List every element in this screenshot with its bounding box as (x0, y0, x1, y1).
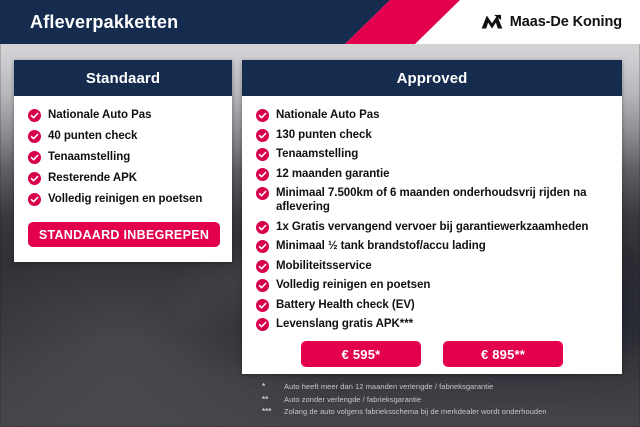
check-circle-icon (256, 187, 269, 200)
feature-label: Volledig reinigen en poetsen (48, 192, 202, 206)
card-approved-body: Nationale Auto Pas 130 punten check Tena… (242, 96, 622, 377)
footnote-row: *** Zolang de auto volgens fabrieksschem… (262, 406, 632, 417)
list-item: Minimaal ½ tank brandstof/accu lading (256, 239, 608, 253)
list-item: Battery Health check (EV) (256, 298, 608, 312)
feature-label: 12 maanden garantie (276, 167, 389, 181)
feature-label: Levenslang gratis APK*** (276, 317, 413, 331)
feature-label: Minimaal ½ tank brandstof/accu lading (276, 239, 486, 253)
list-item: Mobiliteitsservice (256, 259, 608, 273)
feature-label: Nationale Auto Pas (48, 108, 151, 122)
check-circle-icon (28, 130, 41, 143)
footnote-text: Auto zonder verlengde / fabrieksgarantie (284, 394, 421, 405)
check-circle-icon (28, 151, 41, 164)
check-circle-icon (256, 168, 269, 181)
standaard-feature-list: Nationale Auto Pas 40 punten check Tenaa… (28, 108, 218, 206)
list-item: 40 punten check (28, 129, 218, 143)
price-button-895[interactable]: € 895** (443, 341, 563, 367)
feature-label: 1x Gratis vervangend vervoer bij garanti… (276, 220, 588, 234)
feature-label: Volledig reinigen en poetsen (276, 278, 430, 292)
footnote-marker: * (262, 381, 284, 392)
card-approved-title: Approved (397, 70, 468, 87)
check-circle-icon (256, 240, 269, 253)
list-item: Tenaamstelling (28, 150, 218, 164)
check-circle-icon (256, 318, 269, 331)
feature-label: 130 punten check (276, 128, 372, 142)
footnote-marker: ** (262, 394, 284, 405)
footnote-text: Auto heeft meer dan 12 maanden verlengde… (284, 381, 493, 392)
card-standaard-title: Standaard (86, 70, 160, 87)
list-item: Levenslang gratis APK*** (256, 317, 608, 331)
list-item: 12 maanden garantie (256, 167, 608, 181)
check-circle-icon (256, 221, 269, 234)
list-item: Volledig reinigen en poetsen (256, 278, 608, 292)
list-item: Volledig reinigen en poetsen (28, 192, 218, 206)
maas-de-koning-mark-icon (481, 14, 503, 30)
check-circle-icon (256, 148, 269, 161)
price-button-595[interactable]: € 595* (301, 341, 421, 367)
check-circle-icon (28, 109, 41, 122)
card-standaard: Standaard Nationale Auto Pas 40 punten c… (14, 60, 232, 262)
check-circle-icon (256, 279, 269, 292)
afleverpakketten-page: Afleverpakketten Maas-De Koning Standaar… (0, 0, 640, 427)
list-item: Minimaal 7.500km of 6 maanden onderhouds… (256, 186, 608, 214)
card-standaard-body: Nationale Auto Pas 40 punten check Tenaa… (14, 96, 232, 257)
check-circle-icon (256, 299, 269, 312)
brand-logo: Maas-De Koning (481, 0, 622, 44)
feature-label: Mobiliteitsservice (276, 259, 372, 273)
list-item: Tenaamstelling (256, 147, 608, 161)
check-circle-icon (28, 172, 41, 185)
footnote-row: ** Auto zonder verlengde / fabrieksgaran… (262, 394, 632, 405)
brand-name: Maas-De Koning (510, 14, 622, 30)
feature-label: Battery Health check (EV) (276, 298, 415, 312)
list-item: Nationale Auto Pas (256, 108, 608, 122)
list-item: 1x Gratis vervangend vervoer bij garanti… (256, 220, 608, 234)
page-header: Afleverpakketten Maas-De Koning (0, 0, 640, 44)
feature-label: Minimaal 7.500km of 6 maanden onderhouds… (276, 186, 608, 214)
feature-label: Nationale Auto Pas (276, 108, 379, 122)
list-item: Nationale Auto Pas (28, 108, 218, 122)
list-item: Resterende APK (28, 171, 218, 185)
list-item: 130 punten check (256, 128, 608, 142)
page-title: Afleverpakketten (30, 0, 178, 44)
footnotes: * Auto heeft meer dan 12 maanden verleng… (262, 381, 632, 419)
feature-label: Tenaamstelling (48, 150, 130, 164)
footnote-marker: *** (262, 406, 284, 417)
check-circle-icon (256, 109, 269, 122)
feature-label: Resterende APK (48, 171, 137, 185)
check-circle-icon (28, 193, 41, 206)
footnote-row: * Auto heeft meer dan 12 maanden verleng… (262, 381, 632, 392)
feature-label: Tenaamstelling (276, 147, 358, 161)
card-standaard-header: Standaard (14, 60, 232, 96)
feature-label: 40 punten check (48, 129, 137, 143)
card-approved-header: Approved (242, 60, 622, 96)
approved-feature-list: Nationale Auto Pas 130 punten check Tena… (256, 108, 608, 331)
card-approved: Approved Nationale Auto Pas 130 punten c… (242, 60, 622, 374)
footnote-text: Zolang de auto volgens fabrieksschema bi… (284, 406, 547, 417)
check-circle-icon (256, 129, 269, 142)
check-circle-icon (256, 260, 269, 273)
standaard-inbegrepen-button[interactable]: STANDAARD INBEGREPEN (28, 222, 220, 247)
price-button-row: € 595* € 895** (256, 341, 608, 367)
